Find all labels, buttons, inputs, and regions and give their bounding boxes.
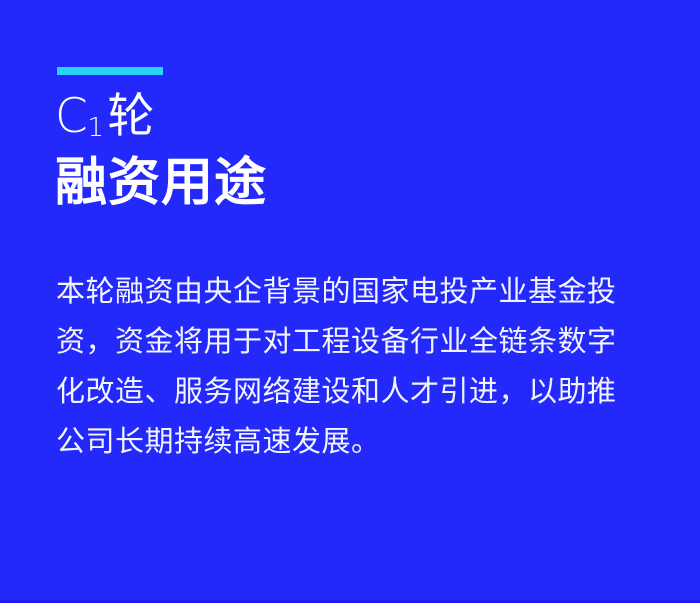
page-title: 融资用途: [55, 155, 267, 211]
accent-bar: [57, 67, 163, 75]
body-paragraph: 本轮融资由央企背景的国家电投产业基金投 资，资金将用于对工程设备行业全链条数字 …: [56, 266, 646, 466]
body-line: 化改造、服务网络建设和人才引进，以助推: [56, 366, 646, 416]
eyebrow-suffix: 轮: [107, 89, 155, 144]
eyebrow-subscript: 1: [87, 113, 104, 143]
body-line: 本轮融资由央企背景的国家电投产业基金投: [56, 266, 646, 316]
eyebrow-heading: C1轮: [55, 92, 155, 140]
body-line: 资，资金将用于对工程设备行业全链条数字: [56, 316, 646, 366]
body-line: 公司长期持续高速发展。: [56, 416, 646, 466]
eyebrow-letter: C: [55, 89, 88, 144]
promo-slide: C1轮 融资用途 本轮融资由央企背景的国家电投产业基金投 资，资金将用于对工程设…: [0, 0, 700, 603]
